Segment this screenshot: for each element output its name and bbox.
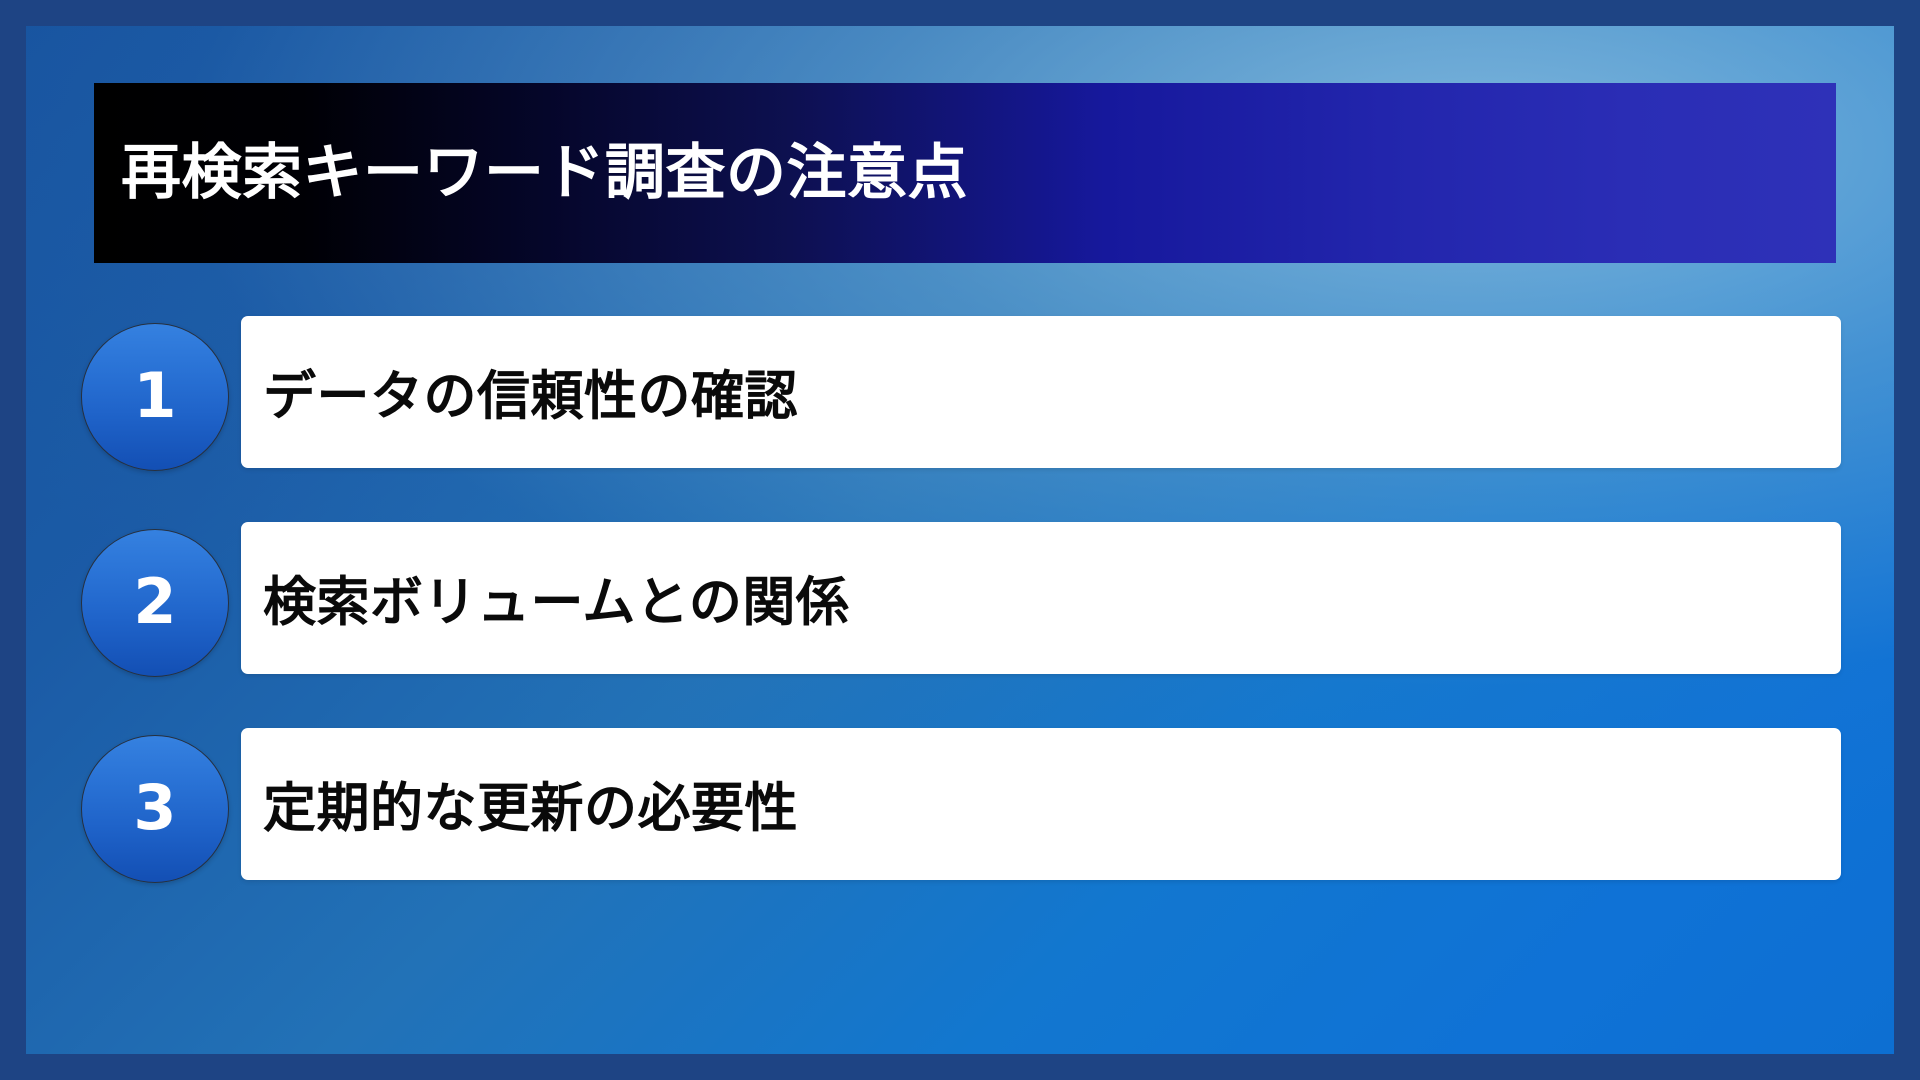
list-item-label: 定期的な更新の必要性	[241, 766, 798, 842]
list-item[interactable]: 1 データの信頼性の確認	[26, 316, 1894, 488]
number-badge-3: 3	[81, 735, 229, 883]
title-bar: 再検索キーワード調査の注意点	[94, 83, 1836, 263]
page-title: 再検索キーワード調査の注意点	[94, 140, 968, 206]
badge-number-label: 3	[133, 777, 176, 839]
badge-number-label: 2	[133, 571, 176, 633]
badge-number-label: 1	[133, 365, 176, 427]
list-item[interactable]: 2 検索ボリュームとの関係	[26, 522, 1894, 694]
list-item-label: データの信頼性の確認	[241, 354, 798, 430]
number-badge-2: 2	[81, 529, 229, 677]
list-item-card-1[interactable]: データの信頼性の確認	[241, 316, 1841, 468]
number-badge-1: 1	[81, 323, 229, 471]
numbered-list: 1 データの信頼性の確認 2 検索ボリュームとの関係 3 定	[26, 316, 1894, 900]
slide-panel: 再検索キーワード調査の注意点 1 データの信頼性の確認 2 検索ボリュームとの関…	[26, 26, 1894, 1054]
list-item[interactable]: 3 定期的な更新の必要性	[26, 728, 1894, 900]
slide-frame: 再検索キーワード調査の注意点 1 データの信頼性の確認 2 検索ボリュームとの関…	[0, 0, 1920, 1080]
list-item-card-3[interactable]: 定期的な更新の必要性	[241, 728, 1841, 880]
list-item-card-2[interactable]: 検索ボリュームとの関係	[241, 522, 1841, 674]
list-item-label: 検索ボリュームとの関係	[241, 560, 849, 636]
